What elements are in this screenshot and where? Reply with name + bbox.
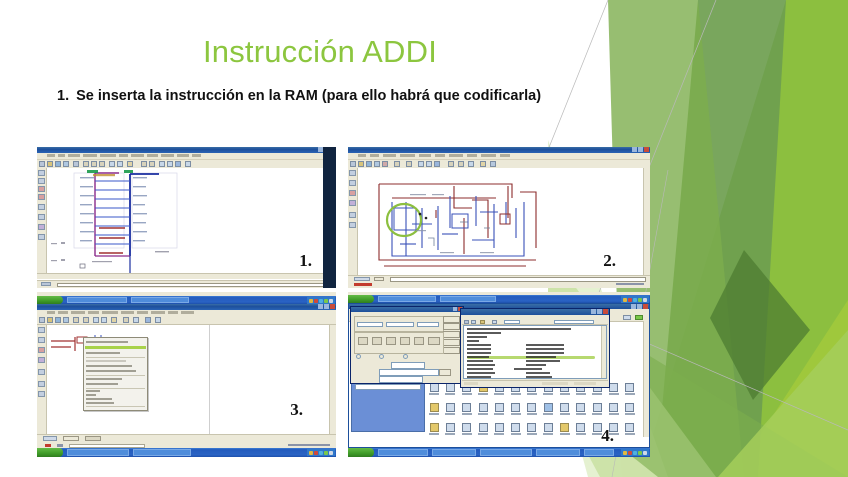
- file-icon[interactable]: [442, 403, 458, 423]
- file-icon[interactable]: [540, 423, 556, 443]
- field-a[interactable]: [391, 362, 425, 369]
- file-icon[interactable]: [491, 403, 507, 423]
- dark-edge-band: [323, 147, 336, 288]
- close-icon[interactable]: [330, 304, 335, 309]
- maximize-icon[interactable]: [324, 304, 329, 309]
- horizontal-scrollbar[interactable]: [37, 273, 336, 279]
- close-icon[interactable]: [603, 309, 608, 314]
- group-identification: [354, 316, 444, 332]
- page-title: Instrucción ADDI: [0, 34, 640, 70]
- file-icon[interactable]: [524, 403, 540, 423]
- code-listing[interactable]: [463, 325, 607, 379]
- file-icon[interactable]: [426, 423, 442, 443]
- group-mode: [354, 332, 444, 354]
- browse-button[interactable]: [439, 369, 451, 376]
- system-tray[interactable]: [621, 296, 649, 303]
- menubar[interactable]: [37, 153, 336, 160]
- canvas[interactable]: [37, 168, 336, 279]
- shot-label-3: 3.: [290, 400, 303, 420]
- tool-rail[interactable]: [37, 168, 47, 279]
- file-icon[interactable]: [508, 423, 524, 443]
- top-taskbar[interactable]: [37, 296, 336, 304]
- help-icon[interactable]: [453, 307, 457, 311]
- context-menu-highlighted-item[interactable]: [85, 346, 146, 349]
- shot-label-1: 1.: [299, 251, 312, 271]
- schematic-drawing-1: [47, 168, 332, 280]
- file-icon[interactable]: [622, 403, 638, 423]
- minimize-icon[interactable]: [591, 309, 596, 314]
- file-icon[interactable]: [426, 383, 442, 403]
- ok-button[interactable]: [443, 316, 460, 323]
- file-icon[interactable]: [491, 423, 507, 443]
- vertical-scrollbar[interactable]: [329, 325, 336, 435]
- start-button[interactable]: [37, 448, 63, 457]
- minimize-icon[interactable]: [318, 304, 323, 309]
- maximize-icon[interactable]: [638, 147, 643, 152]
- tool-rail[interactable]: [37, 325, 47, 435]
- properties-dialog[interactable]: [350, 306, 464, 384]
- vertical-scrollbar[interactable]: [643, 168, 650, 279]
- system-tray[interactable]: [307, 297, 335, 304]
- file-icon[interactable]: [573, 423, 589, 443]
- file-icon[interactable]: [508, 403, 524, 423]
- start-button[interactable]: [348, 295, 374, 303]
- close-icon[interactable]: [644, 147, 649, 152]
- slide-canvas: Instrucción ADDI 1.Se inserta la instruc…: [0, 0, 848, 477]
- file-icon[interactable]: [589, 403, 605, 423]
- radio-option[interactable]: [356, 354, 361, 359]
- minimize-icon[interactable]: [632, 147, 637, 152]
- file-icon[interactable]: [524, 423, 540, 443]
- text-listing-window[interactable]: [460, 308, 610, 388]
- apply-button[interactable]: [443, 331, 460, 338]
- statusbar: [348, 275, 650, 288]
- file-icon[interactable]: [475, 403, 491, 423]
- context-menu[interactable]: [83, 337, 148, 411]
- vertical-scrollbar[interactable]: [601, 326, 606, 378]
- file-icon[interactable]: [426, 403, 442, 423]
- shot-label-4: 4.: [601, 426, 614, 446]
- start-button[interactable]: [348, 448, 374, 457]
- tool-rail[interactable]: [348, 168, 358, 279]
- radio-option[interactable]: [403, 354, 408, 359]
- window-buttons[interactable]: [632, 147, 649, 152]
- file-icon[interactable]: [459, 423, 475, 443]
- file-icon[interactable]: [475, 423, 491, 443]
- file-icon[interactable]: [459, 403, 475, 423]
- page-divider: [209, 325, 210, 435]
- top-taskbar[interactable]: [348, 295, 650, 303]
- file-icon[interactable]: [622, 383, 638, 403]
- file-icon[interactable]: [556, 403, 572, 423]
- extra-button[interactable]: [443, 347, 460, 354]
- bullet-text: Se inserta la instrucción en la RAM (par…: [76, 88, 541, 104]
- vertical-scrollbar[interactable]: [643, 321, 649, 437]
- field-b[interactable]: [379, 369, 439, 376]
- file-icon[interactable]: [442, 423, 458, 443]
- field-c[interactable]: [379, 376, 423, 383]
- maximize-icon[interactable]: [597, 309, 602, 314]
- system-tray[interactable]: [307, 449, 335, 456]
- toolbar[interactable]: [37, 316, 336, 325]
- shot-label-2: 2.: [603, 251, 616, 271]
- explorer-side-pane[interactable]: [351, 381, 425, 432]
- bullet-line: 1.Se inserta la instrucción en la RAM (p…: [57, 88, 637, 104]
- dialog-titlebar: [351, 307, 463, 312]
- bullet-number: 1.: [57, 88, 69, 104]
- statusbar: [462, 380, 608, 386]
- file-icon[interactable]: [540, 403, 556, 423]
- cancel-button[interactable]: [443, 323, 460, 330]
- file-icon[interactable]: [573, 403, 589, 423]
- file-icon[interactable]: [442, 383, 458, 403]
- system-tray[interactable]: [621, 449, 649, 456]
- help-button[interactable]: [443, 339, 460, 346]
- window-buttons[interactable]: [318, 304, 335, 309]
- menubar[interactable]: [348, 153, 650, 160]
- address-combo[interactable]: [355, 384, 421, 390]
- start-button[interactable]: [37, 296, 63, 304]
- screenshot-1[interactable]: 1.: [37, 147, 336, 288]
- schematic-drawing-2: [376, 178, 566, 273]
- file-icon[interactable]: [556, 423, 572, 443]
- statusbar: [37, 434, 336, 443]
- file-icon[interactable]: [622, 423, 638, 443]
- bottom-taskbar[interactable]: [348, 448, 650, 457]
- radio-option[interactable]: [379, 354, 384, 359]
- screenshot-3[interactable]: 3.: [37, 292, 336, 457]
- statusbar: [37, 280, 336, 288]
- bottom-taskbar[interactable]: [37, 448, 336, 457]
- screenshot-4[interactable]: 4.: [348, 292, 650, 457]
- screenshot-2[interactable]: 2.: [348, 147, 650, 288]
- file-icon[interactable]: [605, 403, 621, 423]
